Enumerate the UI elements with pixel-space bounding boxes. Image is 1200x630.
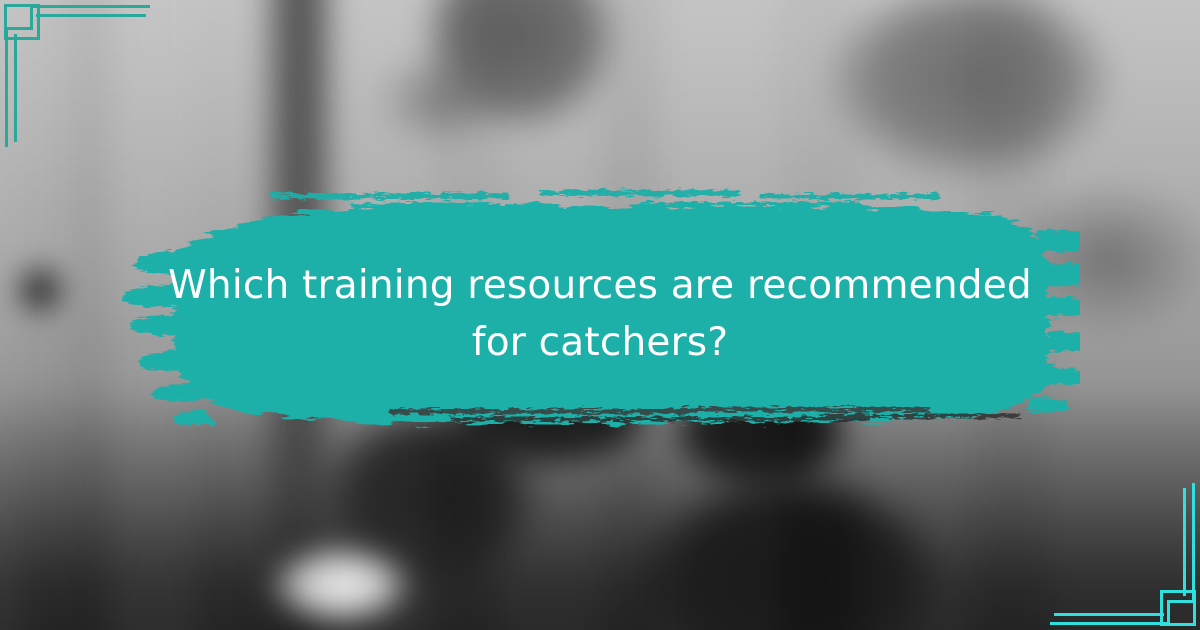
- corner-rule-vertical-long-br: [1192, 483, 1195, 603]
- corner-rule-horizontal-long-br: [1050, 622, 1170, 625]
- corner-rule-elbow-vertical-br: [1167, 600, 1170, 625]
- corner-square-outline-br: [1160, 590, 1196, 626]
- corner-rule-horizontal-short-br: [1054, 613, 1164, 616]
- social-card: Which training resources are recommended…: [0, 0, 1200, 630]
- headline-banner: Which training resources are recommended…: [120, 185, 1080, 445]
- corner-rule-horizontal-long-tl: [30, 5, 150, 8]
- corner-rule-vertical-short-tl: [14, 34, 17, 142]
- corner-rule-elbow-horizontal-tl: [4, 27, 33, 30]
- corner-rule-vertical-long-tl: [5, 27, 8, 147]
- corner-bracket-top-left: [0, 0, 260, 200]
- corner-rule-horizontal-short-tl: [36, 14, 146, 17]
- corner-rule-vertical-short-br: [1183, 488, 1186, 596]
- corner-bracket-bottom-right: [940, 430, 1200, 630]
- headline-line-2: for catchers?: [472, 315, 728, 372]
- headline-text: Which training resources are recommended…: [120, 185, 1080, 445]
- corner-square-outline-tl: [4, 4, 40, 40]
- headline-line-1: Which training resources are recommended: [168, 258, 1032, 315]
